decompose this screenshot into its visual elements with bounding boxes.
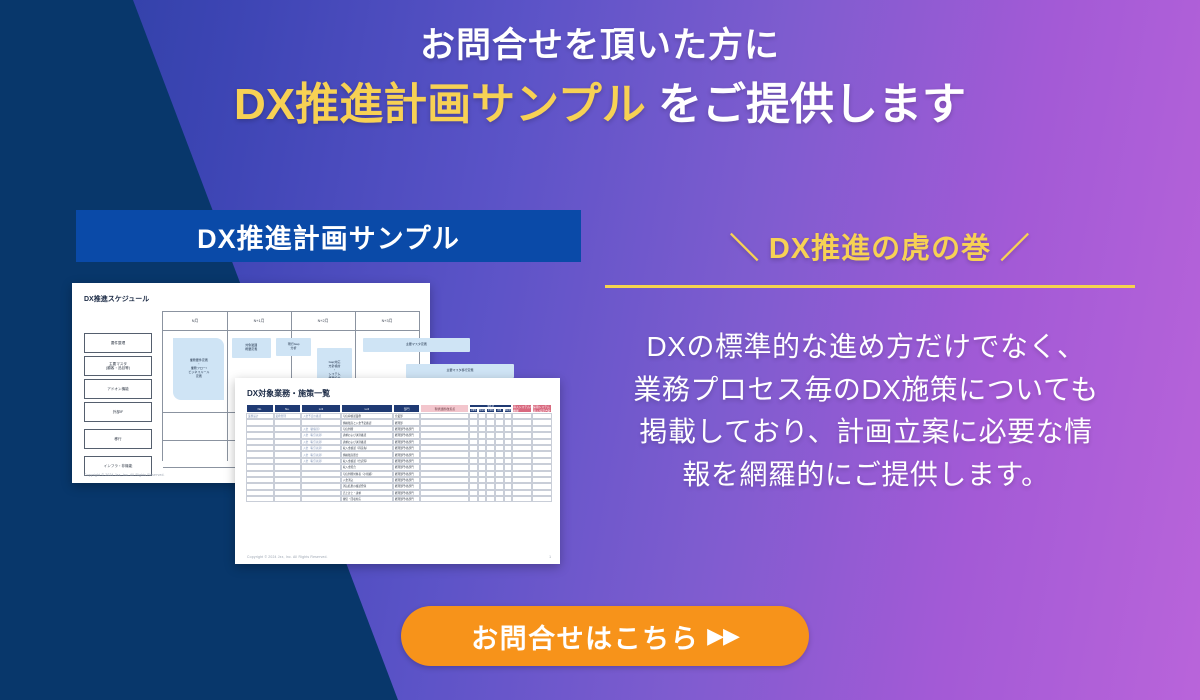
table-cell <box>486 496 495 502</box>
gantt-bar: 主要マスタ定義 <box>363 338 471 352</box>
document-table-page-number: 1 <box>549 555 551 559</box>
yellow-divider-rule <box>605 285 1135 288</box>
table-cell: 督促・回収対応 <box>341 496 393 502</box>
document-table-footer: Copyright © 2024 Jxx, Inc. All Rights Re… <box>247 555 328 559</box>
gantt-bar: 現行Gap分析 <box>276 338 312 356</box>
measures-table: No. No. Lv3 Lv4 部門 現状課題/改善点 優先度 必要性 緊急性 … <box>246 404 552 548</box>
gantt-bar: 対象範囲概要定義 <box>232 338 270 358</box>
body-line: DXの標準的な進め方だけでなく、 <box>586 326 1146 369</box>
headline-accent-text: DX推進計画サンプル <box>234 80 646 129</box>
headline-rest-text: をご提供します <box>646 80 966 129</box>
table-header-cell: 部門 <box>393 404 421 413</box>
table-cell <box>274 496 302 502</box>
contact-cta-button[interactable]: お問合せはこちら ▶▶ <box>401 606 809 666</box>
contact-cta-label: お問合せはこちら <box>471 617 699 656</box>
sample-label-bar: DX推進計画サンプル <box>76 210 581 262</box>
promo-banner: お問合せを頂いた方に DX推進計画サンプル をご提供します DX推進計画サンプル… <box>0 0 1200 700</box>
gantt-row-label: 主要マスタ(顧客・品目等) <box>84 356 152 376</box>
table-cell <box>512 496 532 502</box>
table-header-cell-system: 導入システム/機能 <box>512 404 532 413</box>
gantt-row-label: 要件整理 <box>84 333 152 353</box>
document-schedule-footer: Copyright © 2024 Jxx, Inc. All Rights Re… <box>84 473 165 477</box>
body-line: 掲載しており、計画立案に必要な情 <box>586 411 1146 454</box>
table-header-cell: Lv3 <box>301 404 341 413</box>
gantt-row-label: 外部IF <box>84 402 152 422</box>
body-line: 業務プロセス毎のDX施策についても <box>586 369 1146 412</box>
gantt-row-label: 移行 <box>84 429 152 449</box>
document-table-mockup: DX対象業務・施策一覧 No. No. Lv3 Lv4 部門 現状課題/改善点 … <box>235 378 560 564</box>
table-cell <box>478 496 487 502</box>
table-header-cell: No. <box>246 404 274 413</box>
table-header-cell: No. <box>274 404 302 413</box>
gantt-col-header: N+2月 <box>291 312 356 330</box>
table-header-priority-group: 優先度 必要性 緊急性 実現性 効果 難易度 <box>469 404 512 413</box>
headline-line1: お問合せを頂いた方に <box>0 22 1200 69</box>
gantt-col-header: N+3月 <box>355 312 419 330</box>
table-body: 業務設計業務管理入金予定の確認与信枠確認業務営業部債権残高と入金予定確認経理部入… <box>246 413 552 502</box>
table-cell: 経理部門/各部門 <box>393 496 421 502</box>
headline-line2: DX推進計画サンプル をご提供します <box>0 73 1200 137</box>
table-header-cell-issues: 現状課題/改善点 <box>420 404 469 413</box>
sample-label-text: DX推進計画サンプル <box>197 217 460 256</box>
table-cell <box>469 496 478 502</box>
double-arrow-icon: ▶▶ <box>707 623 739 649</box>
right-heading: ＼ DX推進の虎の巻 ／ <box>600 225 1160 267</box>
gantt-col-header: N+1月 <box>227 312 292 330</box>
table-cell <box>504 496 513 502</box>
headline: お問合せを頂いた方に DX推進計画サンプル をご提供します <box>0 22 1200 137</box>
gantt-bar: 業務要件定義・業務フロー/ビジネスルール定義 <box>173 338 224 400</box>
table-cell <box>532 496 552 502</box>
table-header-row: No. No. Lv3 Lv4 部門 現状課題/改善点 優先度 必要性 緊急性 … <box>246 404 552 413</box>
table-row: 督促・回収対応経理部門/各部門 <box>246 496 552 502</box>
table-cell <box>301 496 341 502</box>
table-header-cell-policy: 採用システム導入/設定方針 <box>532 404 552 413</box>
table-cell <box>246 496 274 502</box>
document-table-title: DX対象業務・施策一覧 <box>247 388 330 399</box>
gantt-bar: 主要マスタ移行定義 <box>406 364 514 378</box>
gantt-row-labels: 要件整理 主要マスタ(顧客・品目等) アドオン機能 外部IF 移行 インフラ・非… <box>84 333 152 479</box>
gantt-row-label: アドオン機能 <box>84 379 152 399</box>
table-cell <box>420 496 469 502</box>
gantt-col-header: N月 <box>163 312 228 330</box>
table-cell <box>495 496 504 502</box>
right-heading-text: ＼ DX推進の虎の巻 ／ <box>730 233 1030 265</box>
right-body-text: DXの標準的な進め方だけでなく、 業務プロセス毎のDX施策についても 掲載してお… <box>586 326 1146 496</box>
table-header-cell: Lv4 <box>341 404 393 413</box>
body-line: 報を網羅的にご提供します。 <box>586 454 1146 497</box>
document-schedule-title: DX推進スケジュール <box>84 294 149 304</box>
